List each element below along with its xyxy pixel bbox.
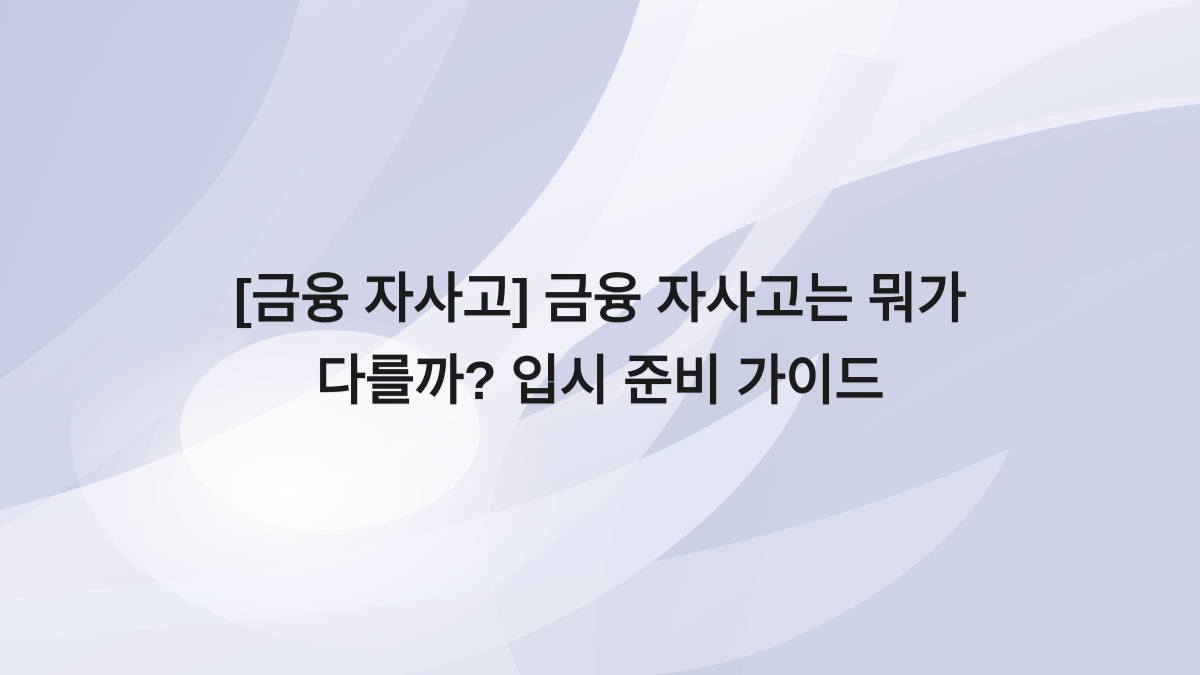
thumbnail-banner: [금융 자사고] 금융 자사고는 뭐가 다를까? 입시 준비 가이드 [0, 0, 1200, 675]
banner-title: [금융 자사고] 금융 자사고는 뭐가 다를까? 입시 준비 가이드 [0, 258, 1200, 422]
title-line-2: 다를까? 입시 준비 가이드 [316, 340, 884, 422]
title-line-1: [금융 자사고] 금융 자사고는 뭐가 [234, 258, 966, 340]
